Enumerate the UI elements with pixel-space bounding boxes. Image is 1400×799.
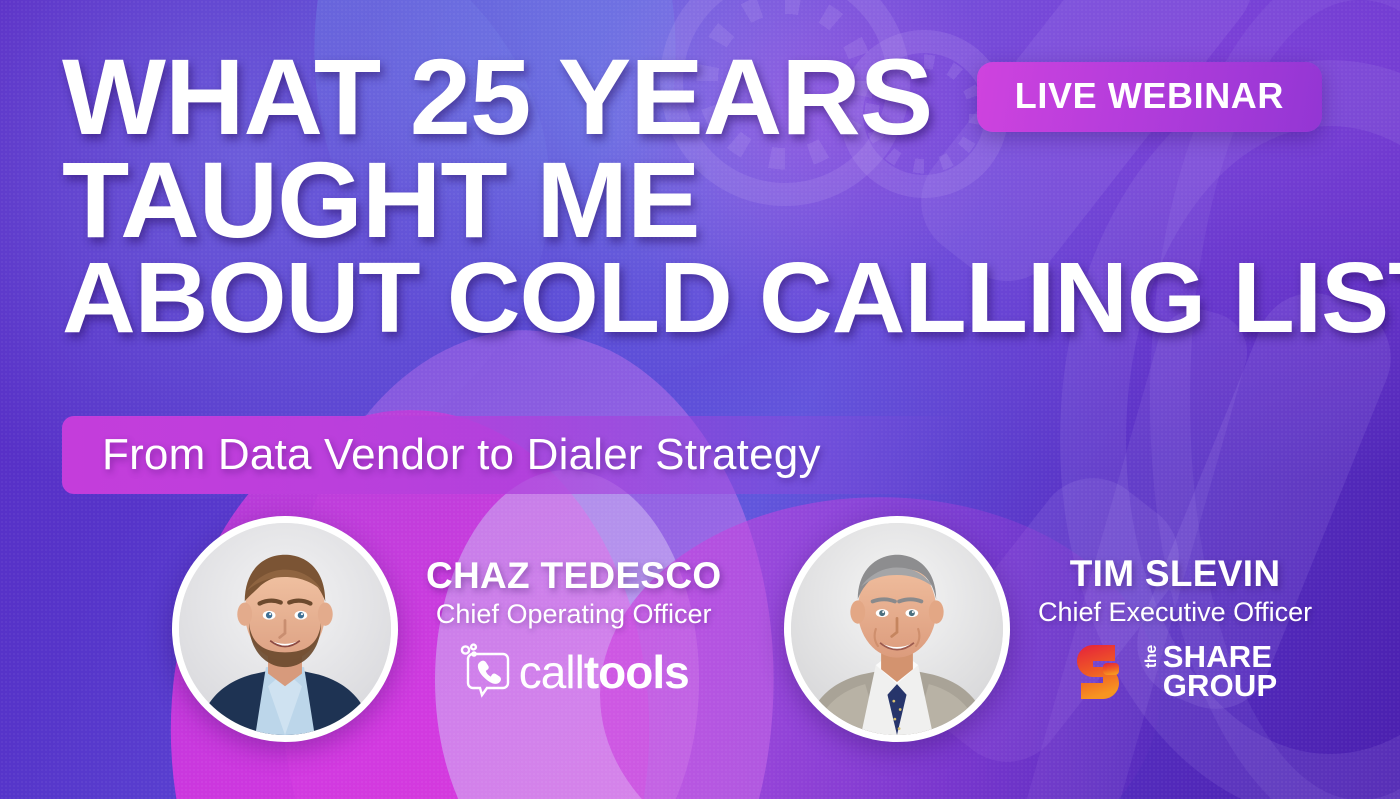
speaker-title: Chief Operating Officer	[436, 598, 712, 632]
share-group-line-2: GROUP	[1163, 672, 1278, 701]
speaker-info: CHAZ TEDESCO Chief Operating Officer cal…	[426, 557, 722, 702]
share-group-wordmark: the SHARE GROUP	[1144, 643, 1278, 701]
avatar	[172, 516, 398, 742]
calltools-wordmark: calltools	[519, 649, 689, 695]
speaker-card-2: TIM SLEVIN Chief Executive Officer	[784, 516, 1312, 742]
headline-line-2: TAUGHT ME	[62, 149, 1378, 252]
tim-slevin-headshot	[791, 523, 1003, 735]
calltools-word-tools: tools	[584, 646, 689, 698]
live-webinar-badge: LIVE WEBINAR	[977, 62, 1322, 132]
speaker-card-1: CHAZ TEDESCO Chief Operating Officer cal…	[172, 516, 722, 742]
speaker-title: Chief Executive Officer	[1038, 596, 1312, 630]
live-webinar-badge-label: LIVE WEBINAR	[1015, 78, 1284, 114]
subtitle-text: From Data Vendor to Dialer Strategy	[62, 430, 821, 480]
phone-speech-bubble-icon	[459, 643, 513, 701]
speaker-name: CHAZ TEDESCO	[426, 557, 722, 596]
speaker-name: TIM SLEVIN	[1070, 555, 1281, 594]
headline-line-3: ABOUT COLD CALLING LISTS	[62, 251, 1378, 346]
share-group-the: the	[1144, 645, 1160, 668]
share-group-logo: the SHARE GROUP	[1073, 641, 1278, 703]
subtitle-bar: From Data Vendor to Dialer Strategy	[62, 416, 962, 494]
calltools-word-call: call	[519, 646, 584, 698]
calltools-logo: calltools	[459, 643, 689, 701]
avatar	[784, 516, 1010, 742]
s-monogram-icon	[1073, 641, 1135, 703]
share-group-name-stack: SHARE GROUP	[1163, 643, 1278, 701]
webinar-promo-banner: WHAT 25 YEARS TAUGHT ME ABOUT COLD CALLI…	[0, 0, 1400, 799]
chaz-tedesco-headshot	[179, 523, 391, 735]
speaker-info: TIM SLEVIN Chief Executive Officer	[1038, 555, 1312, 704]
